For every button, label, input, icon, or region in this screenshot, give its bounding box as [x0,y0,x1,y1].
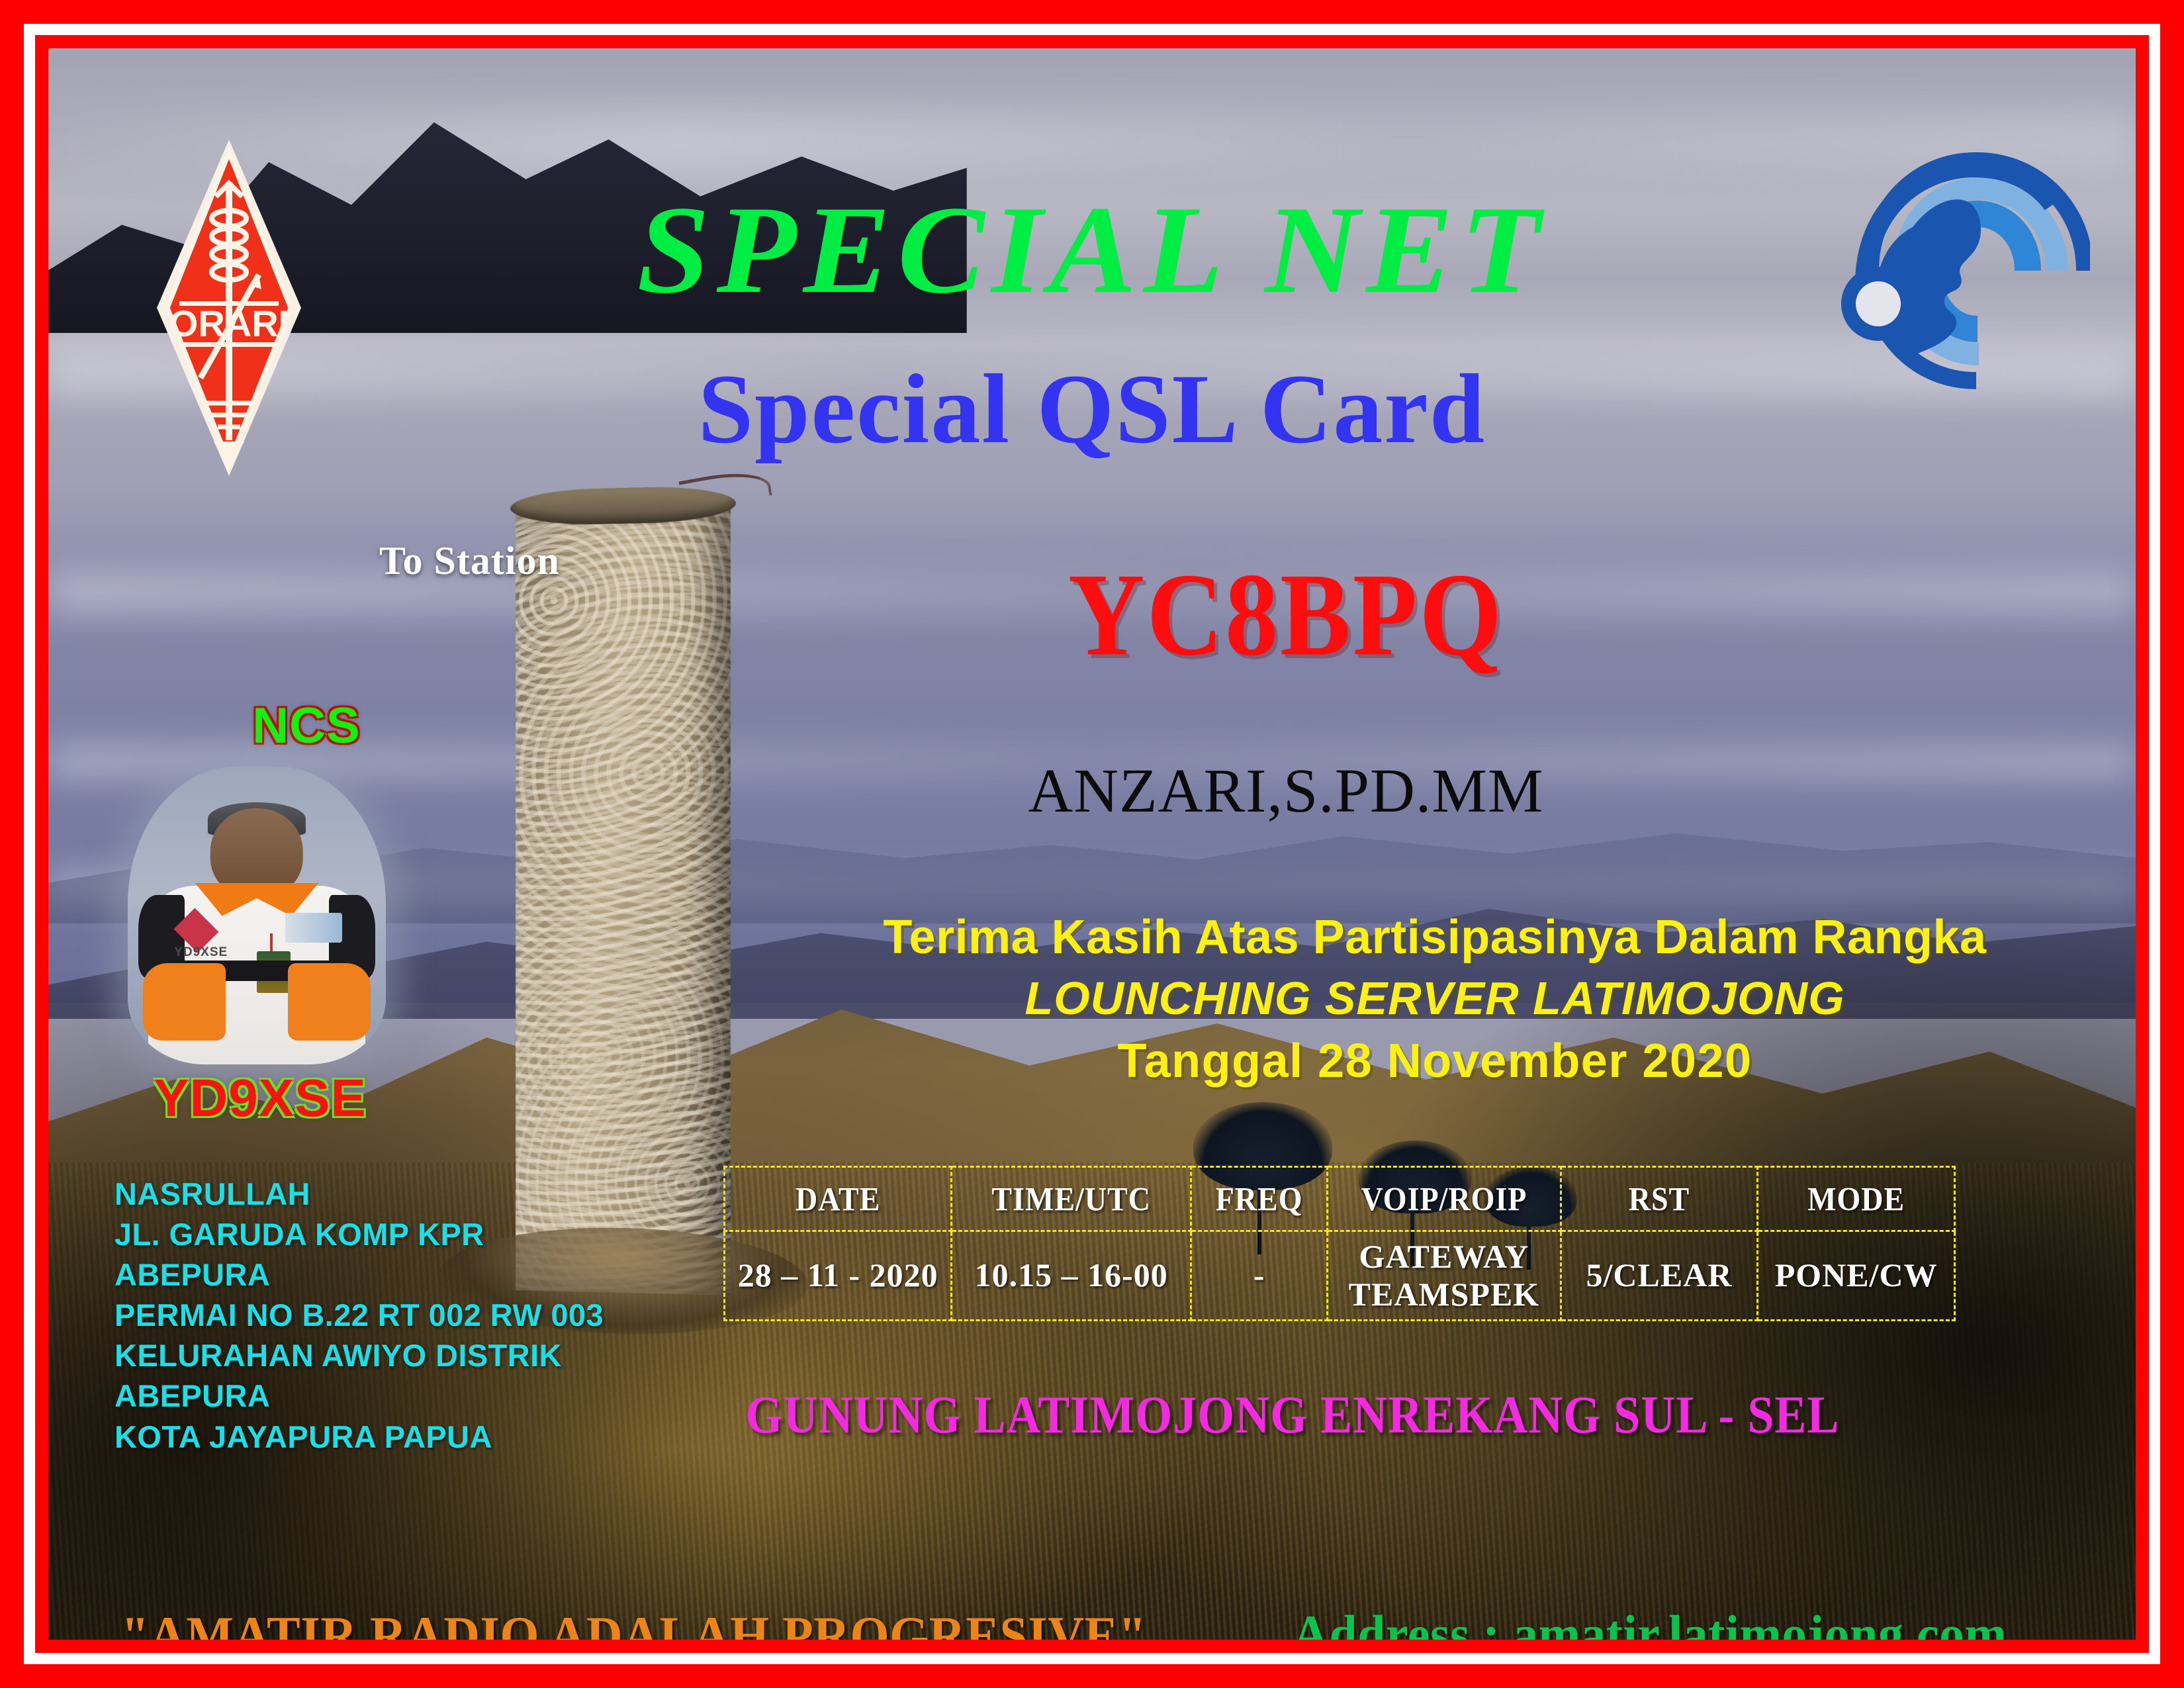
cell-freq: - [1191,1231,1328,1321]
cell-time: 10.15 – 16-00 [952,1231,1191,1321]
table-header-row: DATE TIME/UTC FREQ VOIP/ROIP RST MODE [725,1167,1955,1231]
photo-emblem-badge [285,913,342,943]
ncs-operator-photo: YD9XSE [128,767,386,1064]
column-header-mode: MODE [1758,1164,1955,1235]
footer-web-address: Address : amatir.latimojong.com [1293,1607,2007,1640]
ncs-callsign: YD9XSE [121,1068,399,1129]
operator-name: ANZARI,S.PD.MM [823,760,1749,822]
column-header-date: DATE [725,1164,952,1235]
cell-voip-line1: GATEWAY [1329,1238,1559,1276]
thanks-line-3: Tanggal 28 November 2020 [770,1029,2100,1094]
cell-voip: GATEWAY TEAMSPEK [1328,1231,1561,1321]
card-inner-red-frame: ORARI [35,35,2149,1653]
cell-mode: PONE/CW [1758,1231,1955,1321]
card-overlay: ORARI [48,48,2136,1640]
qso-log-table: DATE TIME/UTC FREQ VOIP/ROIP RST MODE 28… [723,1166,1956,1321]
address-line: KELURAHAN AWIYO DISTRIK [114,1335,657,1376]
column-header-rst: RST [1561,1164,1758,1235]
thanks-line-1: Terima Kasih Atas Partisipasinya Dalam R… [770,909,2100,967]
address-line: ABEPURA [114,1254,657,1295]
page-title-special-net: SPECIAL NET [48,187,2136,313]
photo-orange-right [288,963,371,1041]
cell-voip-line2: TEAMSPEK [1329,1276,1559,1314]
address-line: KOTA JAYAPURA PAPUA [114,1417,657,1457]
column-header-time: TIME/UTC [952,1164,1191,1235]
address-line: PERMAI NO B.22 RT 002 RW 003 [114,1295,657,1335]
location-caption: GUNUNG LATIMOJONG ENREKANG SUL - SEL [710,1388,1875,1442]
station-callsign: YC8BPQ [823,555,1749,673]
photo-orange-left [143,963,226,1041]
table-row: 28 – 11 - 2020 10.15 – 16-00 - GATEWAY T… [725,1231,1955,1321]
cell-rst: 5/CLEAR [1561,1231,1758,1321]
card-photo-stage: ORARI [48,48,2136,1640]
mailing-address-block: NASRULLAH JL. GARUDA KOMP KPR ABEPURA PE… [114,1174,657,1457]
address-line: ABEPURA [114,1376,657,1416]
address-line: JL. GARUDA KOMP KPR [114,1214,657,1254]
photo-uniform-callsign: YD9XSE [174,945,228,960]
to-station-label: To Station [379,538,560,584]
column-header-freq: FREQ [1191,1164,1328,1235]
address-line: NASRULLAH [114,1174,657,1214]
footer-motto: "AMATIR RADIO ADALAH PROGRESIVE" [121,1609,1146,1640]
thanks-line-2: LOUNCHING SERVER LATIMOJONG [770,967,2100,1030]
column-header-voip: VOIP/ROIP [1328,1164,1561,1235]
qsl-card: ORARI [0,0,2184,1688]
ncs-label: NCS [181,697,432,755]
card-white-frame: ORARI [24,24,2160,1664]
thanks-message-block: Terima Kasih Atas Partisipasinya Dalam R… [770,909,2100,1094]
page-subtitle-qsl-card: Special QSL Card [48,359,2136,459]
cell-date: 28 – 11 - 2020 [725,1231,952,1321]
